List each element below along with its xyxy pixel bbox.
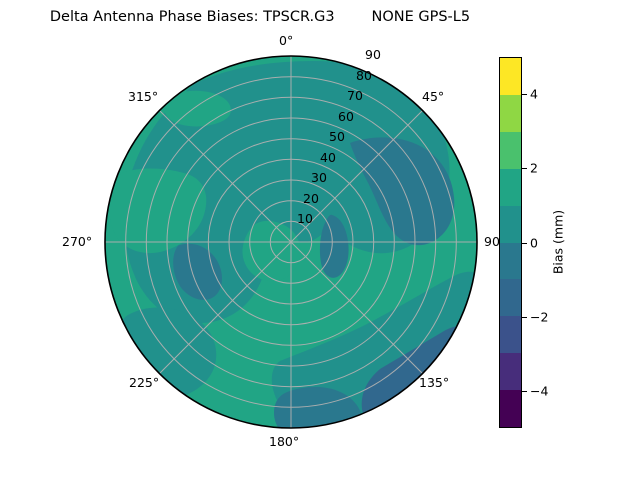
angular-tick-90: 90 [484, 234, 500, 249]
polar-axes: 0° 45° 90 135° 180° 225° 270° 315° 10 20… [104, 55, 478, 429]
colorbar-tickmark-m2 [522, 317, 527, 318]
colorbar-tickmark-2 [522, 168, 527, 169]
radial-tick-60: 60 [338, 109, 354, 124]
colorbar-axis-label: Bias (mm) [551, 210, 566, 274]
radial-tick-90: 90 [365, 47, 381, 62]
colorbar-ticklabel-m2: −2 [530, 309, 548, 324]
colorbar-segment-5 [500, 206, 521, 243]
radial-tick-10: 10 [297, 211, 313, 226]
colorbar-segment-9 [500, 58, 521, 95]
colorbar-segment-4 [500, 243, 521, 280]
colorbar-ticklabel-2: 2 [530, 161, 538, 176]
colorbar-segment-7 [500, 132, 521, 169]
colorbar-ticklabel-0: 0 [530, 235, 538, 250]
angular-tick-225: 225° [129, 375, 159, 390]
chart-title: Delta Antenna Phase Biases: TPSCR.G3 NON… [0, 8, 520, 26]
colorbar-ticklabel-4: 4 [530, 87, 538, 102]
angular-tick-180: 180° [269, 434, 299, 449]
polar-grid [105, 56, 477, 428]
colorbar-tickmark-0 [522, 243, 527, 244]
colorbar-gradient [499, 57, 522, 428]
colorbar-ticklabel-m4: −4 [530, 383, 548, 398]
colorbar-segment-3 [500, 279, 521, 316]
angular-tick-0: 0° [279, 33, 293, 48]
polar-plot-svg [104, 55, 478, 429]
colorbar-segment-8 [500, 95, 521, 132]
colorbar-tickmark-4 [522, 94, 527, 95]
colorbar-tickmark-m4 [522, 391, 527, 392]
colorbar-segment-6 [500, 169, 521, 206]
radial-tick-80: 80 [356, 68, 372, 83]
radial-tick-30: 30 [311, 170, 327, 185]
colorbar-segment-2 [500, 316, 521, 353]
colorbar: 4 2 0 −2 −4 [499, 57, 522, 428]
colorbar-segment-0 [500, 390, 521, 427]
radial-tick-40: 40 [320, 150, 336, 165]
colorbar-segment-1 [500, 353, 521, 390]
angular-tick-135: 135° [419, 375, 449, 390]
radial-tick-70: 70 [347, 88, 363, 103]
angular-tick-45: 45° [422, 89, 444, 104]
figure-canvas: Delta Antenna Phase Biases: TPSCR.G3 NON… [0, 0, 640, 480]
radial-tick-20: 20 [303, 191, 319, 206]
angular-tick-315: 315° [128, 89, 158, 104]
radial-tick-50: 50 [329, 129, 345, 144]
angular-tick-270: 270° [62, 234, 92, 249]
